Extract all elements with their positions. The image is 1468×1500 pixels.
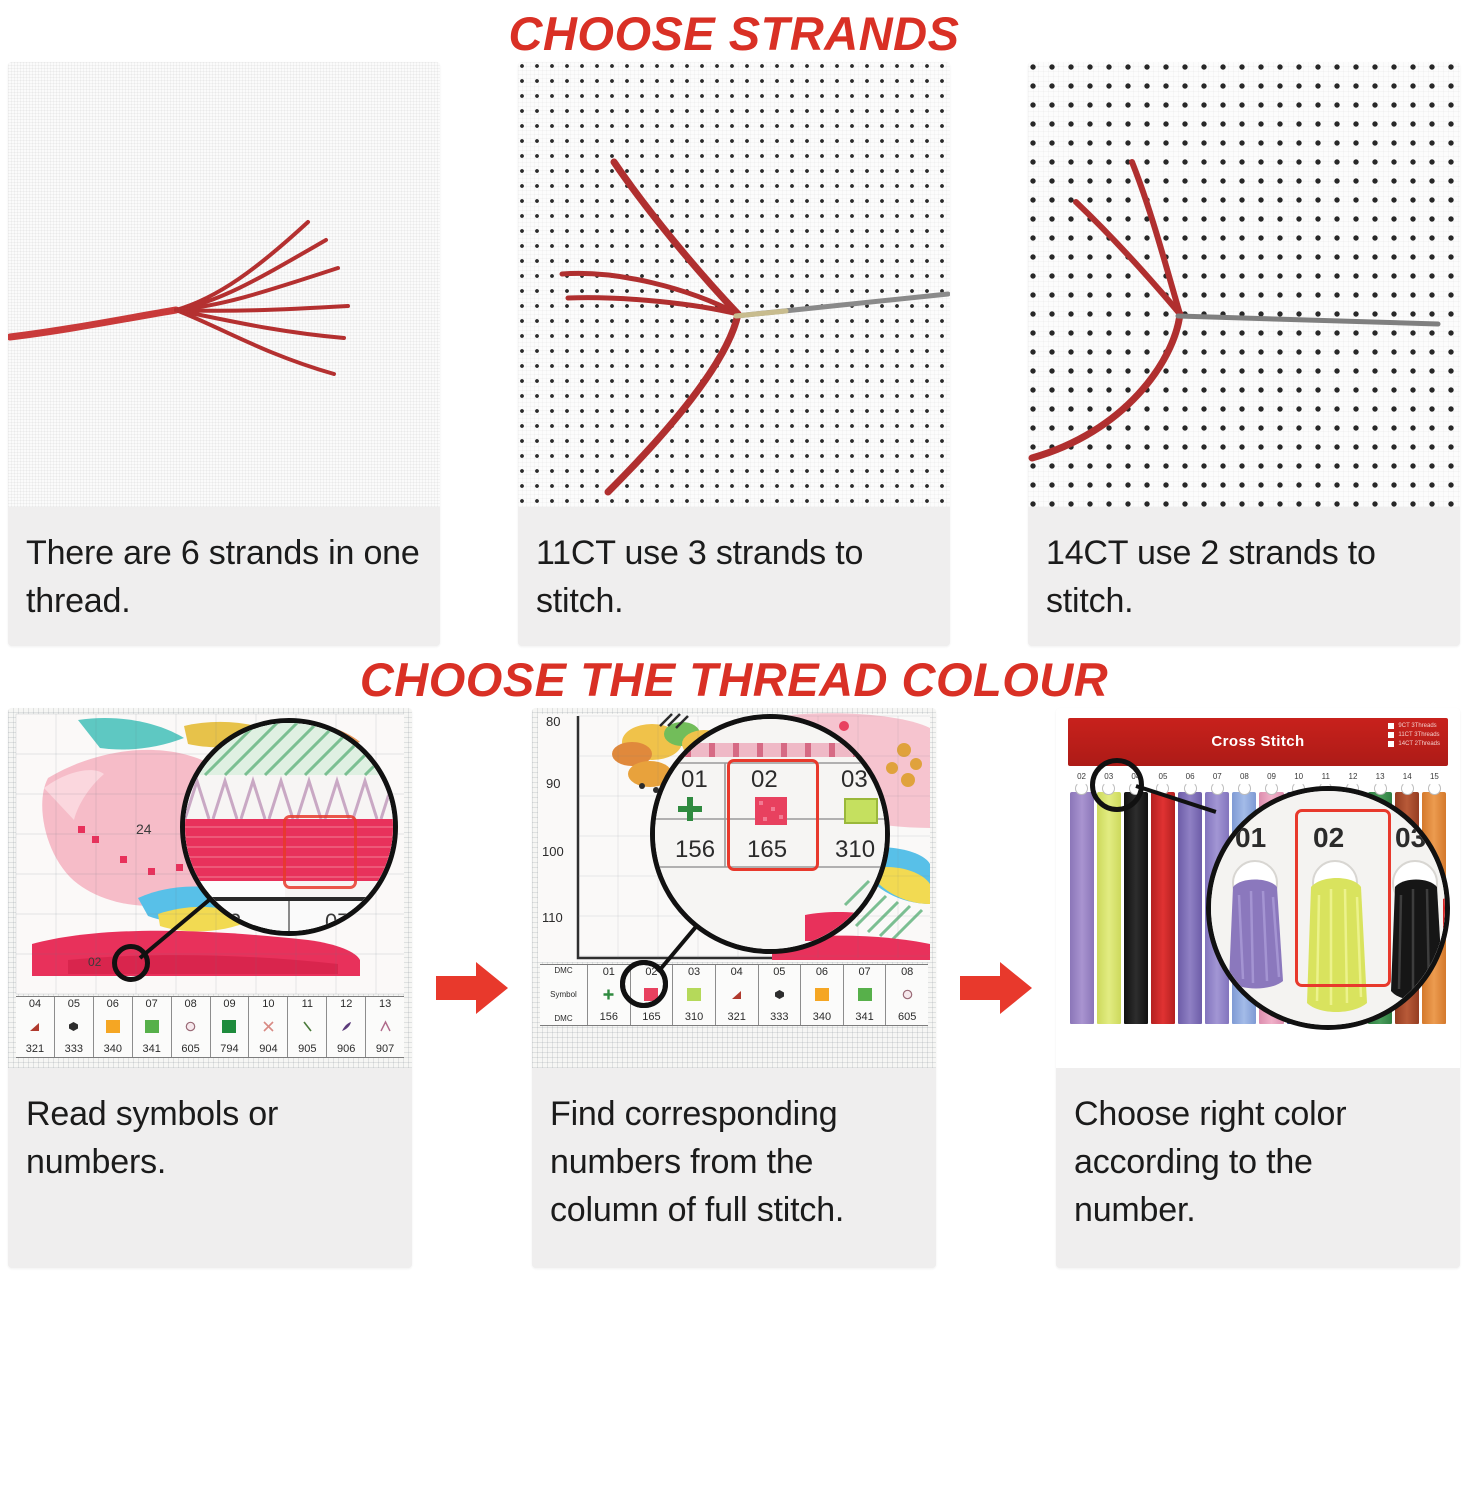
thread-colour-panel-row: 24 02 04 321 05: [0, 708, 1468, 1268]
legend-symbol-square-darkgreen: [222, 1019, 237, 1034]
legend-cell: 03 310: [673, 965, 716, 1025]
legend-cell: 11 905: [288, 997, 327, 1057]
panel-caption-read-symbols: Read symbols or numbers.: [8, 1068, 412, 1268]
skein-number: 06: [1186, 772, 1195, 781]
card-checkbox-row: 11CT 3Threads: [1388, 732, 1440, 738]
legend-code: 341: [855, 1012, 873, 1023]
legend-symbol-square-orange: [105, 1019, 120, 1034]
legend-code: 794: [220, 1044, 238, 1055]
axis-tick-90: 90: [546, 776, 560, 791]
panel-caption-11ct: 11CT use 3 strands to stitch.: [518, 507, 950, 646]
legend-row-label-mid: Symbol: [550, 991, 577, 999]
legend-row-label-top: DMC: [554, 967, 572, 975]
legend-number: 09: [223, 999, 235, 1010]
legend-code: 340: [813, 1012, 831, 1023]
thread-splitting-into-six-strands-photo: [8, 62, 440, 507]
pattern-chart-with-colour-number-legend-photo: 80 90 100 110: [532, 708, 936, 1068]
magnifier-bubble-numbers: 01 02 03 156 165 310: [650, 714, 890, 954]
highlight-box-number-02: [727, 759, 819, 871]
legend-symbol-slash: [300, 1019, 315, 1034]
legend-symbol-hexagon: [772, 987, 787, 1002]
arrow-right-icon: [436, 958, 508, 1018]
symbol-legend-table: 04 321 05 333 06: [16, 996, 404, 1058]
legend-cell: 05 333: [759, 965, 802, 1025]
choose-strands-heading: CHOOSE STRANDS: [0, 0, 1468, 62]
legend-code: 310: [685, 1012, 703, 1023]
checkbox-label: 9CT 3Threads: [1398, 723, 1436, 729]
legend-cell: 07 341: [133, 997, 172, 1057]
legend-code: 905: [298, 1044, 316, 1055]
panel-caption-choose-colour: Choose right color according to the numb…: [1056, 1068, 1460, 1268]
panel-caption-six-strands: There are 6 strands in one thread.: [8, 507, 440, 646]
axis-tick-80: 80: [546, 714, 560, 729]
skein-strand: [1151, 792, 1175, 1024]
printed-canvas-with-symbol-legend-photo: 24 02 04 321 05: [8, 708, 412, 1068]
legend-row-label-bot: DMC: [554, 1015, 572, 1023]
svg-text:03: 03: [841, 766, 868, 793]
thread-card-with-numbered-skeins-photo: Cross Stitch 9CT 3Threads 11CT 3Threads: [1056, 708, 1460, 1068]
legend-number: 05: [68, 999, 80, 1010]
skein-strand: [1097, 792, 1121, 1024]
highlight-box-symbol: [283, 815, 357, 889]
skein-strand: [1178, 792, 1202, 1024]
legend-number: 01: [603, 967, 615, 978]
magnifier-focus-dot: [112, 944, 150, 982]
legend-number: 04: [731, 967, 743, 978]
strands-panel-row: There are 6 strands in one thread. 11CT …: [0, 62, 1468, 646]
skein-number: 08: [1240, 772, 1249, 781]
legend-code: 165: [642, 1012, 660, 1023]
panel-14ct-two-strands: 14CT use 2 strands to stitch.: [1028, 62, 1460, 646]
skein-col: 13: [1367, 772, 1394, 794]
skein-number: 12: [1349, 772, 1358, 781]
legend-symbol-square-lime: [687, 987, 702, 1002]
legend-symbol-circle-open: [183, 1019, 198, 1034]
legend-code: 321: [728, 1012, 746, 1023]
legend-cell: 08 605: [886, 965, 928, 1025]
choose-thread-colour-heading: CHOOSE THE THREAD COLOUR: [0, 646, 1468, 708]
legend-symbol-triangle: [27, 1019, 42, 1034]
legend-number: 12: [340, 999, 352, 1010]
fourteen-count-aida-with-two-strands-photo: [1028, 62, 1460, 507]
skein-col: 14: [1394, 772, 1421, 794]
legend-number: 04: [29, 999, 41, 1010]
legend-symbol-hexagon: [66, 1019, 81, 1034]
skein-number: 07: [1213, 772, 1222, 781]
skein-number: 10: [1294, 772, 1303, 781]
legend-cell: 04 321: [716, 965, 759, 1025]
skein-number: 02: [1077, 772, 1086, 781]
skein-col: 15: [1421, 772, 1448, 794]
legend-symbol-square-orange: [814, 987, 829, 1002]
card-checkbox-list: 9CT 3Threads 11CT 3Threads 14CT 2Threads: [1388, 723, 1440, 747]
legend-symbol-plus: [601, 987, 616, 1002]
legend-code: 340: [104, 1044, 122, 1055]
legend-cell: 06 340: [801, 965, 844, 1025]
legend-number: 11: [302, 999, 313, 1010]
next-step-arrow: [436, 958, 508, 1018]
three-strands-and-needle-illustration: [518, 62, 950, 507]
skein-col: 07: [1204, 772, 1231, 794]
legend-focus-ring: [620, 960, 668, 1008]
skein-notch-icon: [1211, 782, 1224, 795]
two-strands-and-needle-illustration: [1028, 62, 1460, 507]
legend-cell: 13 907: [366, 997, 404, 1057]
skein-notch-icon: [1401, 782, 1414, 795]
skein-strand: [1124, 792, 1148, 1024]
legend-code: 907: [376, 1044, 394, 1055]
panel-read-symbols: 24 02 04 321 05: [8, 708, 412, 1268]
legend-code: 321: [26, 1044, 44, 1055]
skein-col: 08: [1231, 772, 1258, 794]
eleven-count-aida-with-three-strands-photo: [518, 62, 950, 507]
checkbox-icon: [1388, 723, 1394, 729]
legend-cell: 06 340: [94, 997, 133, 1057]
legend-symbol-leaf: [339, 1019, 354, 1034]
skein-number: 14: [1403, 772, 1412, 781]
legend-cell: 10 904: [249, 997, 288, 1057]
legend-code: 156: [600, 1012, 618, 1023]
legend-symbol-caret: [378, 1019, 393, 1034]
legend-symbol-triangle: [729, 987, 744, 1002]
card-title: Cross Stitch: [1211, 733, 1304, 750]
skein-notch-icon: [1428, 782, 1441, 795]
legend-cell: 08 605: [172, 997, 211, 1057]
svg-text:02: 02: [88, 955, 102, 969]
skein-strand: [1070, 792, 1094, 1024]
legend-symbol-square-green: [857, 987, 872, 1002]
legend-number: 05: [773, 967, 785, 978]
legend-cell: 05 333: [55, 997, 94, 1057]
skein-number: 09: [1267, 772, 1276, 781]
legend-code: 341: [142, 1044, 160, 1055]
skein-notch-icon: [1184, 782, 1197, 795]
panel-caption-find-numbers: Find corresponding numbers from the colu…: [532, 1068, 936, 1268]
dmc-number-legend-table: DMC Symbol DMC 01 156 02 165: [540, 964, 928, 1026]
magnifier-bubble-skeins: 01 02 03: [1206, 786, 1450, 1030]
legend-number: 07: [858, 967, 870, 978]
legend-cell: 12 906: [327, 997, 366, 1057]
next-step-arrow: [960, 958, 1032, 1018]
svg-text:01: 01: [1235, 822, 1266, 853]
legend-code: 906: [337, 1044, 355, 1055]
svg-text:156: 156: [675, 836, 715, 863]
skein-number: 11: [1322, 772, 1330, 781]
legend-symbol-square-green: [144, 1019, 159, 1034]
svg-text:01: 01: [681, 766, 708, 793]
legend-code: 333: [770, 1012, 788, 1023]
panel-choose-colour: Cross Stitch 9CT 3Threads 11CT 3Threads: [1056, 708, 1460, 1268]
legend-cell: 04 321: [16, 997, 55, 1057]
card-checkbox-row: 14CT 2Threads: [1388, 741, 1440, 747]
checkbox-icon: [1388, 732, 1394, 738]
legend-number: 07: [146, 999, 158, 1010]
legend-code: 605: [181, 1044, 199, 1055]
six-strands-illustration: [8, 62, 440, 507]
legend-number: 06: [816, 967, 828, 978]
legend-number: 06: [107, 999, 119, 1010]
legend-number: 08: [901, 967, 913, 978]
legend-code: 904: [259, 1044, 277, 1055]
legend-number: 13: [379, 999, 391, 1010]
checkbox-label: 11CT 3Threads: [1398, 732, 1439, 738]
skein-notch-icon: [1374, 782, 1387, 795]
checkbox-label: 14CT 2Threads: [1398, 741, 1440, 747]
skein-notch-icon: [1238, 782, 1251, 795]
magnifier-bubble-symbols: 2 07: [180, 718, 398, 936]
skein-col: 06: [1177, 772, 1204, 794]
skein-number: 13: [1376, 772, 1385, 781]
legend-number: 10: [262, 999, 274, 1010]
legend-number: 08: [184, 999, 196, 1010]
panel-find-numbers: 80 90 100 110: [532, 708, 936, 1268]
legend-code: 605: [898, 1012, 916, 1023]
legend-row-labels: DMC Symbol DMC: [540, 965, 588, 1025]
panel-11ct-three-strands: 11CT use 3 strands to stitch.: [518, 62, 950, 646]
highlight-box-skein-02: [1295, 809, 1391, 987]
legend-number: 03: [688, 967, 700, 978]
legend-code: 333: [65, 1044, 83, 1055]
svg-text:310: 310: [835, 836, 875, 863]
skein-notch-icon: [1265, 782, 1278, 795]
skein-number: 05: [1159, 772, 1168, 781]
legend-cell: 09 794: [211, 997, 250, 1057]
skein-number: 15: [1430, 772, 1439, 781]
svg-text:24: 24: [136, 821, 152, 837]
panel-six-strands: There are 6 strands in one thread.: [8, 62, 440, 646]
skein-col: 09: [1258, 772, 1285, 794]
arrow-right-icon: [960, 958, 1032, 1018]
legend-cell: 07 341: [844, 965, 887, 1025]
panel-caption-14ct: 14CT use 2 strands to stitch.: [1028, 507, 1460, 646]
legend-symbol-cross: [261, 1019, 276, 1034]
axis-tick-110: 110: [542, 910, 563, 925]
axis-tick-100: 100: [542, 844, 564, 859]
legend-symbol-circle-open: [900, 987, 915, 1002]
checkbox-icon: [1388, 741, 1394, 747]
skein-notch-icon: [1075, 782, 1088, 795]
card-checkbox-row: 9CT 3Threads: [1388, 723, 1440, 729]
